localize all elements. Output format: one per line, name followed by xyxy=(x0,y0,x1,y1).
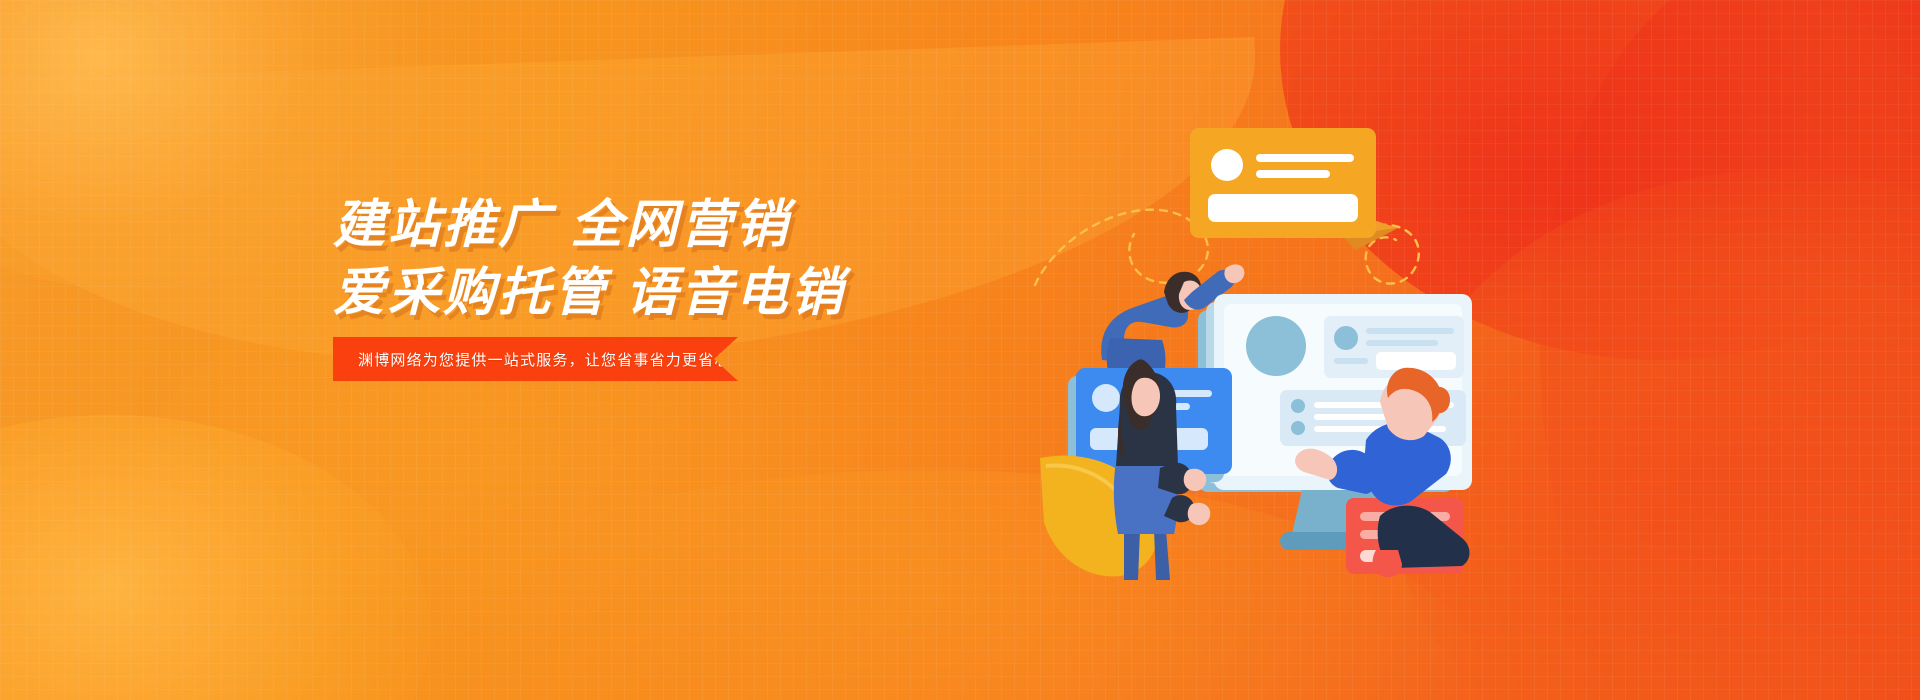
hero-illustration-svg xyxy=(1080,110,1500,590)
headline-line-2: 爱采购托管 语音电销 xyxy=(333,264,973,322)
subtitle-ribbon-body: 渊博网络为您提供一站式服务，让您省事省力更省心 xyxy=(333,337,738,381)
subtitle-ribbon: 渊博网络为您提供一站式服务，让您省事省力更省心 xyxy=(333,337,738,381)
screen-card-top-right xyxy=(1324,316,1464,378)
promo-hero-banner: 建站推广 全网营销 爱采购托管 语音电销 渊博网络为您提供一站式服务，让您省事省… xyxy=(0,0,1920,700)
background-decoration-layer xyxy=(0,0,1920,700)
subtitle-ribbon-text: 渊博网络为您提供一站式服务，让您省事省力更省心 xyxy=(358,349,731,370)
headline-line-1: 建站推广 全网营销 xyxy=(333,196,973,254)
hero-illustration xyxy=(1080,110,1500,590)
screen-avatar-circle xyxy=(1246,316,1306,376)
yellow-profile-card xyxy=(1190,128,1376,238)
headline-copy-block: 建站推广 全网营销 爱采购托管 语音电销 xyxy=(333,196,973,322)
